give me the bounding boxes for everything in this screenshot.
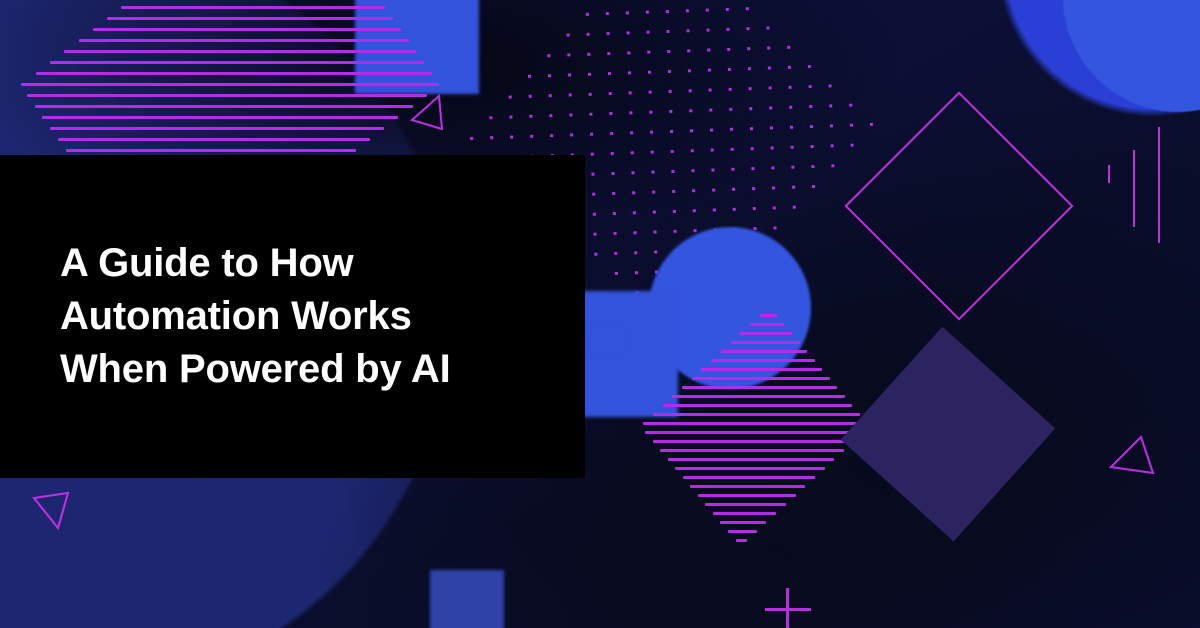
vertical-stroke-long-icon xyxy=(1158,127,1160,243)
triangle-bottom-left-icon xyxy=(30,490,74,532)
blue-square-bottom xyxy=(430,570,504,628)
triangle-bottom-right-icon xyxy=(1106,432,1158,482)
magenta-plus-bottom-icon xyxy=(765,588,811,628)
striped-diamond-center xyxy=(640,305,870,545)
title-card: A Guide to How Automation Works When Pow… xyxy=(0,155,585,478)
vertical-stroke-short-icon xyxy=(1108,165,1110,183)
vertical-stroke-medium-icon xyxy=(1133,150,1135,227)
blue-rect-center xyxy=(583,326,625,356)
page-title: A Guide to How Automation Works When Pow… xyxy=(60,237,475,397)
triangle-top-left-icon xyxy=(410,93,450,133)
promo-banner: A Guide to How Automation Works When Pow… xyxy=(0,0,1200,628)
